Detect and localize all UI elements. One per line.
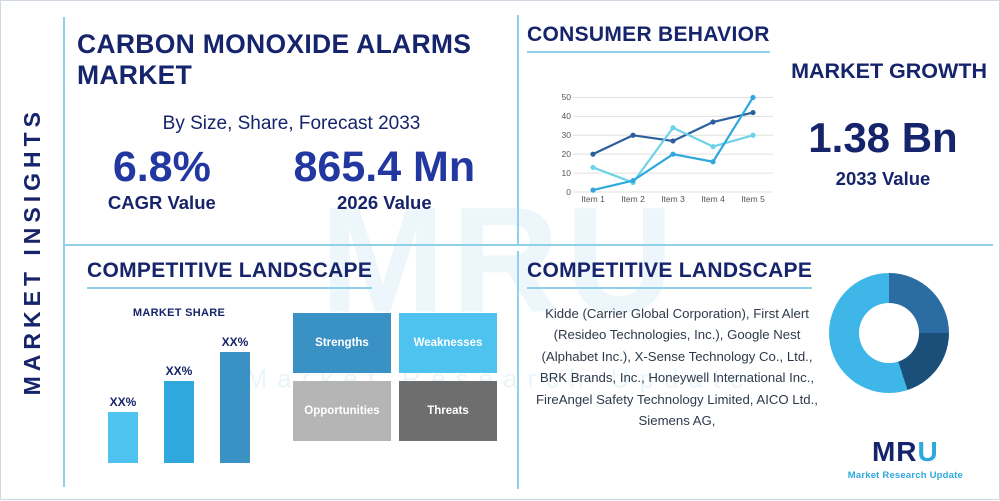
market-share-title: MARKET SHARE bbox=[79, 307, 279, 319]
donut-chart-ring bbox=[829, 273, 949, 393]
line-data-point bbox=[670, 125, 675, 130]
x-tick-label: Item 5 bbox=[733, 194, 773, 204]
line-data-point bbox=[590, 188, 595, 193]
swot-grid: StrengthsWeaknessesOpportunitiesThreats bbox=[293, 313, 497, 463]
cagr-label: CAGR Value bbox=[108, 192, 216, 214]
line-chart-plot bbox=[573, 88, 773, 196]
y-tick-label: 20 bbox=[562, 149, 571, 159]
bar-value-label: XX% bbox=[166, 364, 193, 378]
swot-cell[interactable]: Threats bbox=[399, 381, 497, 441]
swot-cell[interactable]: Strengths bbox=[293, 313, 391, 373]
competitive-landscape-left-panel: COMPETITIVE LANDSCAPE MARKET SHARE XX%XX… bbox=[69, 251, 514, 489]
bar-value-label: XX% bbox=[222, 335, 249, 349]
competitive-landscape-right-header: COMPETITIVE LANDSCAPE bbox=[527, 259, 812, 289]
market-2026-value: 865.4 Mn bbox=[294, 145, 476, 190]
x-tick-label: Item 4 bbox=[693, 194, 733, 204]
y-tick-label: 30 bbox=[562, 130, 571, 140]
market-share-bar: XX% bbox=[108, 412, 138, 463]
consumer-behavior-header: CONSUMER BEHAVIOR bbox=[527, 23, 770, 53]
bar-value-label: XX% bbox=[110, 395, 137, 409]
logo-main-text: MR bbox=[872, 436, 918, 467]
x-tick-label: Item 2 bbox=[613, 194, 653, 204]
consumer-behavior-row: 01020304050 Item 1Item 2Item 3Item 4Item… bbox=[523, 88, 993, 218]
market-growth-title: MARKET GROWTH bbox=[523, 59, 987, 84]
donut-chart bbox=[829, 273, 949, 393]
market-growth-block: 1.38 Bn 2033 Value bbox=[773, 114, 993, 190]
x-tick-label: Item 1 bbox=[573, 194, 613, 204]
rail-divider bbox=[63, 17, 65, 487]
horizontal-divider bbox=[63, 244, 993, 246]
market-2033-value: 1.38 Bn bbox=[773, 114, 993, 162]
line-data-point bbox=[670, 152, 675, 157]
market-share-chart: MARKET SHARE XX%XX%XX% bbox=[79, 307, 279, 463]
company-list: Kidde (Carrier Global Corporation), Firs… bbox=[527, 303, 827, 431]
market-overview-panel: CARBON MONOXIDE ALARMS MARKET By Size, S… bbox=[69, 15, 514, 243]
y-tick-label: 40 bbox=[562, 111, 571, 121]
swot-cell[interactable]: Opportunities bbox=[293, 381, 391, 441]
line-data-point bbox=[750, 133, 755, 138]
line-chart-y-axis: 01020304050 bbox=[543, 88, 573, 192]
y-tick-label: 0 bbox=[566, 187, 571, 197]
line-data-point bbox=[590, 152, 595, 157]
line-data-point bbox=[750, 110, 755, 115]
market-share-bar: XX% bbox=[220, 352, 250, 463]
page-subtitle: By Size, Share, Forecast 2033 bbox=[69, 113, 514, 135]
logo-tagline: Market Research Update bbox=[848, 470, 963, 481]
line-data-point bbox=[630, 178, 635, 183]
logo-accent-text: U bbox=[918, 436, 939, 467]
line-data-point bbox=[670, 138, 675, 143]
market-insights-label: MARKET INSIGHTS bbox=[19, 107, 46, 395]
line-data-point bbox=[590, 165, 595, 170]
line-chart: 01020304050 Item 1Item 2Item 3Item 4Item… bbox=[543, 88, 773, 218]
stat-cagr: 6.8% CAGR Value bbox=[108, 145, 216, 214]
logo-wordmark: MRU bbox=[848, 436, 963, 468]
line-data-point bbox=[710, 159, 715, 164]
line-data-point bbox=[630, 133, 635, 138]
brand-logo: MRU Market Research Update bbox=[848, 436, 963, 481]
y-tick-label: 50 bbox=[562, 92, 571, 102]
line-chart-x-axis: Item 1Item 2Item 3Item 4Item 5 bbox=[573, 194, 773, 204]
swot-cell[interactable]: Weaknesses bbox=[399, 313, 497, 373]
line-series bbox=[593, 113, 753, 155]
key-stats: 6.8% CAGR Value 865.4 Mn 2026 Value bbox=[69, 145, 514, 214]
market-share-bars: XX%XX%XX% bbox=[79, 333, 279, 463]
line-data-point bbox=[710, 119, 715, 124]
line-data-point bbox=[750, 95, 755, 100]
x-tick-label: Item 3 bbox=[653, 194, 693, 204]
competitive-landscape-left-header: COMPETITIVE LANDSCAPE bbox=[87, 259, 372, 289]
vertical-divider-top bbox=[517, 15, 519, 244]
market-share-bar: XX% bbox=[164, 381, 194, 463]
consumer-behavior-panel: CONSUMER BEHAVIOR MARKET GROWTH 01020304… bbox=[523, 15, 993, 243]
y-tick-label: 10 bbox=[562, 168, 571, 178]
market-2033-label: 2033 Value bbox=[773, 168, 993, 190]
market-insights-rail: MARKET INSIGHTS bbox=[1, 1, 63, 501]
competitive-landscape-body: MARKET SHARE XX%XX%XX% StrengthsWeakness… bbox=[69, 307, 514, 463]
competitive-landscape-right-panel: COMPETITIVE LANDSCAPE Kidde (Carrier Glo… bbox=[523, 251, 993, 489]
page-title: CARBON MONOXIDE ALARMS MARKET bbox=[77, 29, 514, 91]
vertical-divider-bottom bbox=[517, 251, 519, 489]
cagr-value: 6.8% bbox=[108, 145, 216, 190]
line-data-point bbox=[710, 144, 715, 149]
market-2026-label: 2026 Value bbox=[294, 192, 476, 214]
infographic-page: MRU Market Research Update MARKET INSIGH… bbox=[0, 0, 1000, 500]
stat-2026: 865.4 Mn 2026 Value bbox=[294, 145, 476, 214]
